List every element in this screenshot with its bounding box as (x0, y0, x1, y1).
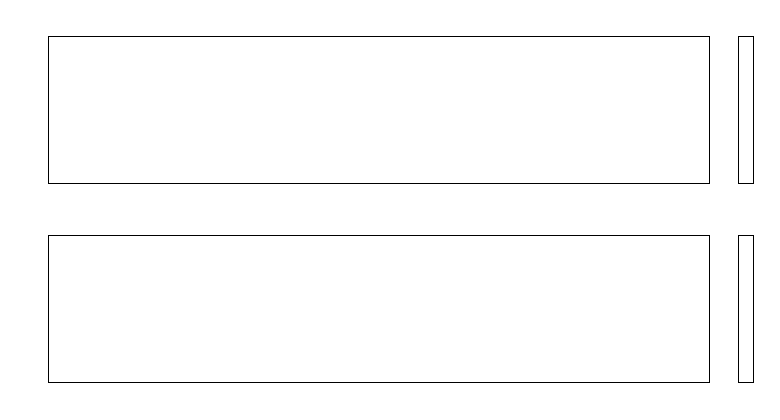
panel-attenuated-backscatter (48, 36, 710, 184)
colorbar-top (738, 36, 754, 184)
plot-area-top (49, 37, 709, 183)
colorbar-bottom (738, 235, 754, 383)
figure-root (0, 0, 780, 420)
panel-raw-attenuated-backscatter (48, 235, 710, 383)
plot-area-bottom (49, 236, 709, 382)
